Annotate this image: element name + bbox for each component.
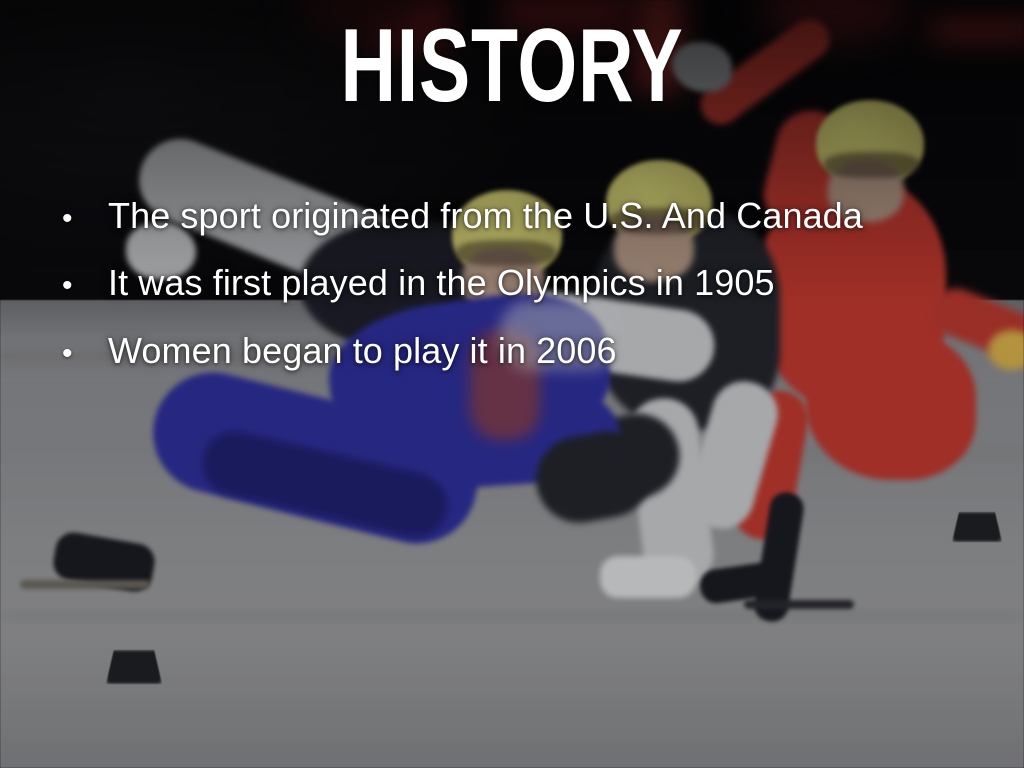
page-title: HISTORY	[133, 14, 891, 118]
bullet-point-icon: •	[62, 271, 108, 301]
bullet-point-icon: •	[62, 204, 108, 234]
list-item: • Women began to play it in 2006	[62, 331, 1012, 371]
slide-content: HISTORY • The sport originated from the …	[0, 0, 1024, 768]
bullet-list: • The sport originated from the U.S. And…	[62, 196, 1012, 398]
presentation-slide: HISTORY • The sport originated from the …	[0, 0, 1024, 768]
bullet-point-icon: •	[62, 339, 108, 369]
list-item-label: The sport originated from the U.S. And C…	[108, 196, 863, 236]
list-item-label: Women began to play it in 2006	[108, 331, 617, 371]
list-item: • The sport originated from the U.S. And…	[62, 196, 1012, 236]
list-item-label: It was first played in the Olympics in 1…	[108, 263, 775, 303]
list-item: • It was first played in the Olympics in…	[62, 263, 1012, 303]
